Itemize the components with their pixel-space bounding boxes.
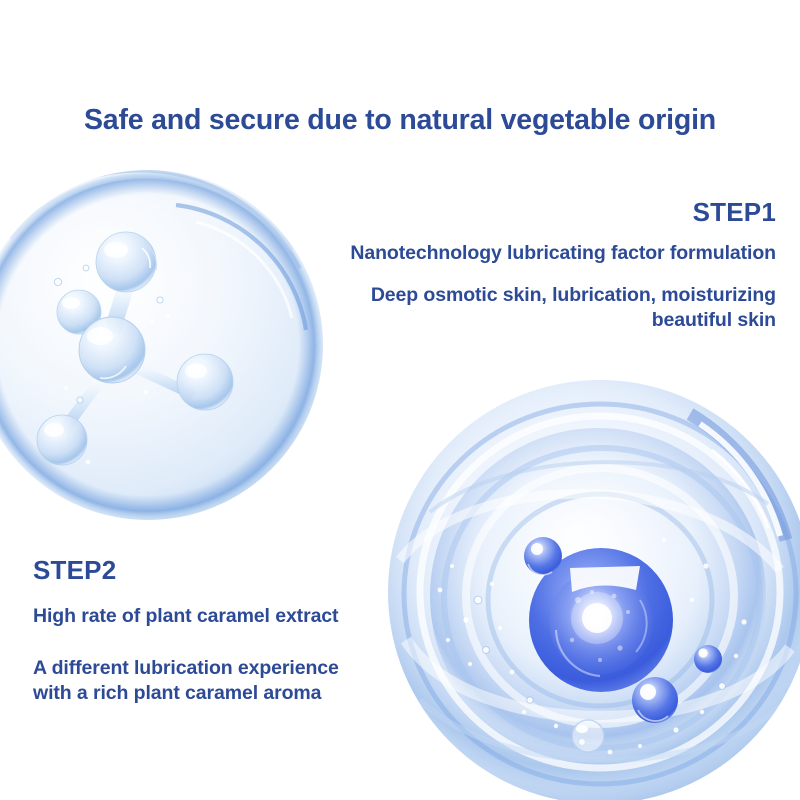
step2-block: STEP2 High rate of plant caramel extract… xyxy=(33,556,433,706)
molecule-bonds xyxy=(58,284,196,434)
gel-swirl-graphic xyxy=(388,380,800,800)
step1-paragraph-2: Deep osmotic skin, lubrication, moisturi… xyxy=(276,283,776,333)
step1-label: STEP1 xyxy=(276,198,776,227)
infographic-canvas: Safe and secure due to natural vegetable… xyxy=(0,0,800,800)
step1-paragraph-2-line-1: Deep osmotic skin, lubrication, moisturi… xyxy=(276,283,776,308)
molecule-atoms xyxy=(37,232,233,465)
step2-label: STEP2 xyxy=(33,556,433,585)
step2-paragraph-2-line-1: A different lubrication experience xyxy=(33,656,433,681)
step1-block: STEP1 Nanotechnology lubricating factor … xyxy=(276,198,776,333)
step2-paragraph-1: High rate of plant caramel extract xyxy=(33,604,433,628)
molecule-bubble-graphic xyxy=(0,170,323,558)
blue-core-droplet xyxy=(529,548,673,692)
page-title: Safe and secure due to natural vegetable… xyxy=(0,104,800,137)
step2-paragraph-2-line-2: with a rich plant caramel aroma xyxy=(33,681,433,706)
step2-paragraph-2: A different lubrication experience with … xyxy=(33,656,433,706)
molecule-microbubbles xyxy=(55,266,170,465)
step1-paragraph-1: Nanotechnology lubricating factor formul… xyxy=(276,241,776,265)
step1-paragraph-2-line-2: beautiful skin xyxy=(276,308,776,333)
satellite-droplets xyxy=(524,537,722,723)
